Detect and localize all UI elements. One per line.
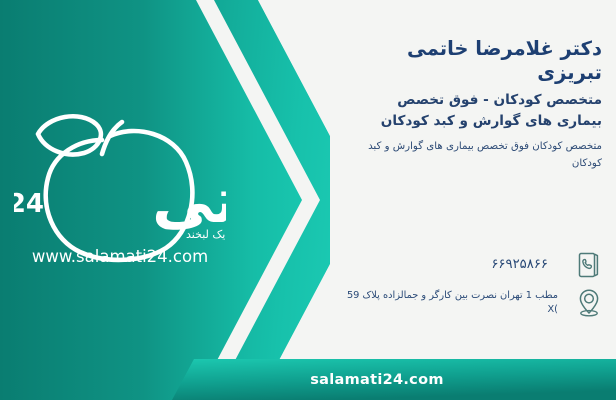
doctor-specialty-secondary: متخصص کودکان فوق تخصص بیماری های گوارش و… <box>368 138 602 173</box>
doctor-specialty: متخصص کودکان - فوق تخصص بیماری های گوارش… <box>362 90 602 132</box>
business-card: سلامتی 24 براحتی یک لبخند www.salamati24… <box>0 0 616 400</box>
contact-row-address[interactable]: مطب 1 تهران نصرت بین کارگر و جمالزاده پل… <box>342 286 604 320</box>
address-text: مطب 1 تهران نصرت بین کارگر و جمالزاده پل… <box>342 289 562 316</box>
teal-chevron-artwork <box>0 0 330 400</box>
contact-row-phone[interactable]: ۶۶۹۲۵۸۶۶ <box>342 248 604 282</box>
phonebook-icon <box>574 248 604 282</box>
footer-website: salamati24.com <box>172 359 616 400</box>
footer-bar[interactable]: salamati24.com <box>172 359 616 400</box>
card-content: دکتر غلامرضا خاتمی تبریزی متخصص کودکان -… <box>330 0 616 400</box>
doctor-name: دکتر غلامرضا خاتمی تبریزی <box>344 37 602 86</box>
map-pin-icon <box>574 286 604 320</box>
phone-number: ۶۶۹۲۵۸۶۶ <box>342 256 562 274</box>
